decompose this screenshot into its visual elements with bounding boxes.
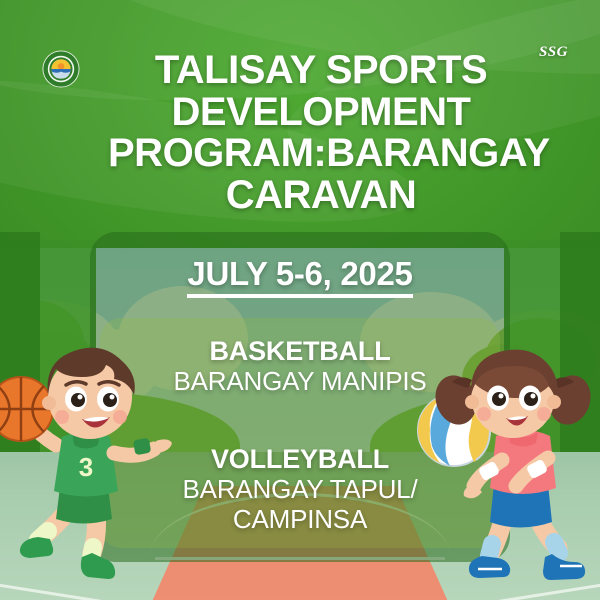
basketball-icon <box>0 377 53 441</box>
page-title: TALISAY SPORTS DEVELOPMENT PROGRAM:BARAN… <box>0 50 600 216</box>
boy-basketball-player-illustration: 3 <box>0 341 179 596</box>
title-line-2: DEVELOPMENT <box>108 92 534 134</box>
svg-text:3: 3 <box>79 452 93 482</box>
event-date: JULY 5-6, 2025 <box>90 255 510 293</box>
title-line-1: TALISAY SPORTS <box>108 50 534 92</box>
title-line-4: CARAVAN <box>108 175 534 217</box>
event-date-text: JULY 5-6, 2025 <box>187 255 412 298</box>
title-line-3: PROGRAM:BARANGAY <box>108 133 534 175</box>
sports-event-poster: SSG TALISAY SPORTS DEVELOPMENT PROGRAM:B… <box>0 0 600 600</box>
girl-volleyball-player-illustration <box>412 338 600 596</box>
